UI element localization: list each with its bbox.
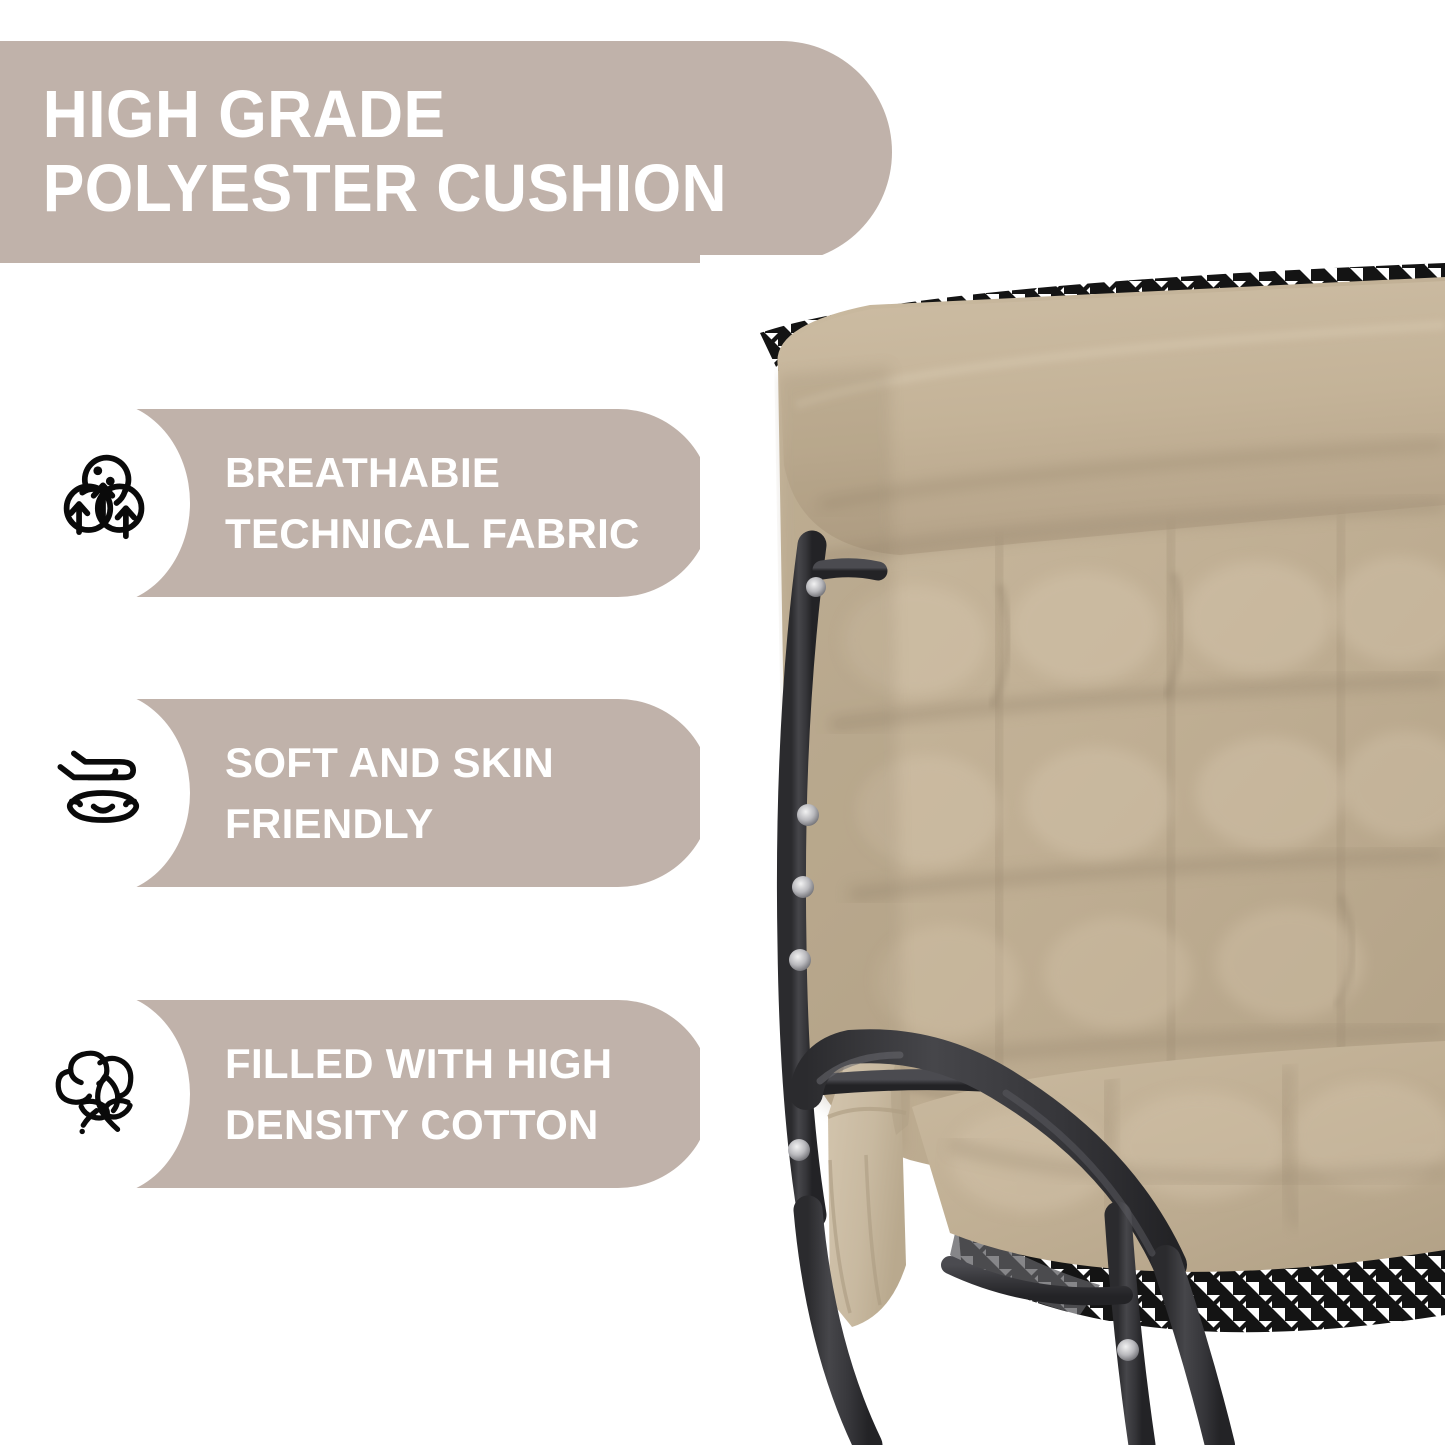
breathable-fabric-icon bbox=[51, 451, 155, 555]
skin-friendly-icon bbox=[51, 741, 155, 845]
page-title: HIGH GRADE POLYESTER CUSHION bbox=[0, 78, 727, 226]
infographic-page: HIGH GRADE POLYESTER CUSHION bbox=[0, 0, 1445, 1445]
feature-icon-badge bbox=[15, 401, 190, 605]
feature-icon-badge bbox=[15, 992, 190, 1196]
feature-pill-cotton-fill: FILLED WITH HIGH DENSITY COTTON bbox=[32, 1000, 712, 1188]
feature-pill-skin-friendly: SOFT AND SKIN FRIENDLY bbox=[32, 699, 712, 887]
header-banner: HIGH GRADE POLYESTER CUSHION bbox=[0, 41, 892, 263]
cotton-flower-icon bbox=[51, 1042, 155, 1146]
rocking-chair-illustration bbox=[700, 255, 1445, 1445]
feature-pill-breathable: BREATHABIE TECHNICAL FABRIC bbox=[32, 409, 712, 597]
product-photo bbox=[700, 255, 1445, 1445]
feature-icon-badge bbox=[15, 691, 190, 895]
